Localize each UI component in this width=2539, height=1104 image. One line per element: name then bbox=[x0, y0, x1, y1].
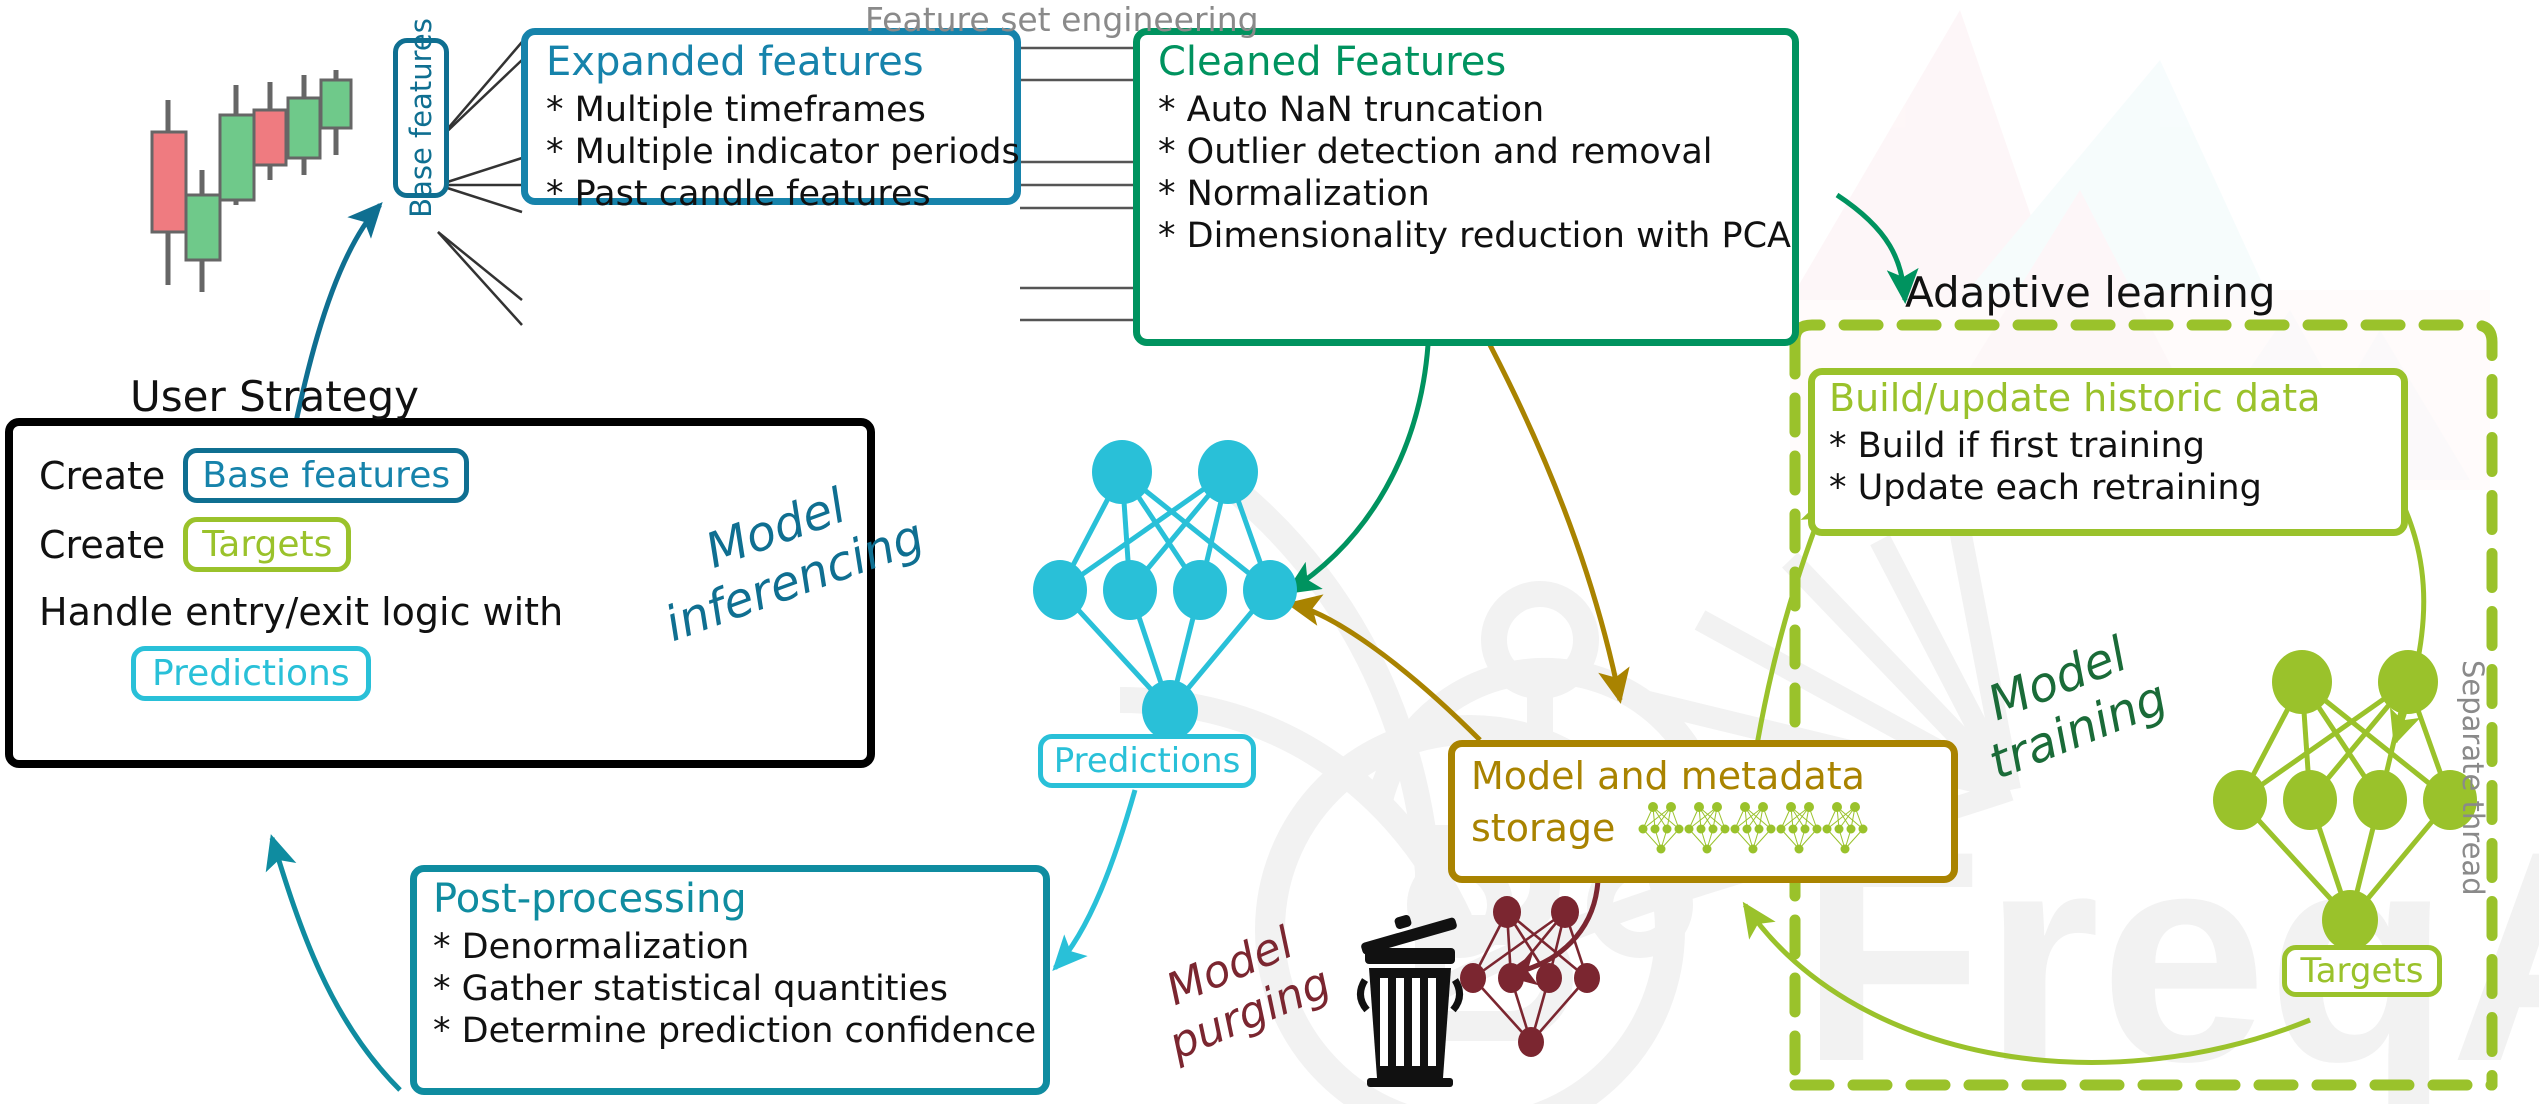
storage-line2: storage bbox=[1471, 806, 1615, 850]
list-item: Past candle features bbox=[546, 173, 998, 215]
feature-set-engineering-header: Feature set engineering bbox=[865, 0, 1259, 39]
model-metadata-storage-box: Model and metadata storage bbox=[1448, 740, 1958, 883]
connector-expanded-to-cleaned bbox=[1020, 48, 1133, 320]
fan-base-to-expanded bbox=[438, 42, 522, 325]
cleaned-features-title: Cleaned Features bbox=[1158, 41, 1776, 83]
expanded-features-list: Multiple timeframes Multiple indicator p… bbox=[546, 89, 998, 215]
post-processing-title: Post-processing bbox=[433, 878, 1029, 920]
list-item: Gather statistical quantities bbox=[433, 968, 1029, 1010]
cleaned-features-box: Cleaned Features Auto NaN truncation Out… bbox=[1133, 28, 1799, 346]
diagram-canvas: FreqAI bbox=[0, 0, 2539, 1104]
targets-output-pill: Targets bbox=[2282, 945, 2442, 997]
pill-base-features: Base features bbox=[183, 448, 469, 503]
predictions-output-pill: Predictions bbox=[1038, 734, 1256, 788]
create-label-2: Create bbox=[39, 523, 165, 567]
cleaned-features-list: Auto NaN truncation Outlier detection an… bbox=[1158, 89, 1776, 257]
base-features-vertical-pill: Base features bbox=[393, 38, 449, 198]
targets-output-label: Targets bbox=[2301, 951, 2424, 991]
list-item: Dimensionality reduction with PCA bbox=[1158, 215, 1776, 257]
historic-data-list: Build if first training Update each retr… bbox=[1829, 425, 2391, 509]
list-item: Denormalization bbox=[433, 926, 1029, 968]
post-processing-box: Post-processing Denormalization Gather s… bbox=[410, 865, 1050, 1095]
inference-neural-network-icon bbox=[1030, 430, 1320, 760]
trash-can-icon bbox=[1355, 900, 1465, 1090]
pill-targets: Targets bbox=[183, 517, 351, 572]
arrow-cleaned-to-adaptive bbox=[1837, 195, 1905, 300]
expanded-features-box: Expanded features Multiple timeframes Mu… bbox=[521, 28, 1021, 205]
list-item: Determine prediction confidence bbox=[433, 1010, 1029, 1052]
strategy-row-base-features: Create Base features bbox=[39, 448, 867, 503]
historic-data-title: Build/update historic data bbox=[1829, 379, 2391, 419]
purged-model-neural-network-icon bbox=[1455, 890, 1615, 1070]
arrow-predictions-to-postprocessing bbox=[1055, 790, 1135, 968]
pill-predictions: Predictions bbox=[131, 646, 371, 701]
list-item: Outlier detection and removal bbox=[1158, 131, 1776, 173]
list-item: Multiple indicator periods bbox=[546, 131, 998, 173]
list-item: Multiple timeframes bbox=[546, 89, 998, 131]
list-item: Build if first training bbox=[1829, 425, 2391, 467]
base-features-vertical-label: Base features bbox=[404, 18, 438, 218]
separate-thread-label: Separate thread bbox=[2456, 660, 2490, 896]
predictions-output-label: Predictions bbox=[1054, 741, 1241, 781]
arrow-features-to-storage bbox=[1490, 345, 1620, 700]
strategy-row-predictions: Predictions bbox=[39, 646, 867, 701]
storage-line1: Model and metadata bbox=[1471, 755, 1951, 799]
create-label-1: Create bbox=[39, 454, 165, 498]
user-strategy-heading: User Strategy bbox=[130, 372, 419, 421]
expanded-features-title: Expanded features bbox=[546, 41, 998, 83]
post-processing-list: Denormalization Gather statistical quant… bbox=[433, 926, 1029, 1052]
arrow-postprocessing-to-strategy bbox=[272, 838, 400, 1090]
adaptive-learning-heading: Adaptive learning bbox=[1905, 268, 2276, 317]
build-update-historic-data-box: Build/update historic data Build if firs… bbox=[1808, 368, 2408, 536]
list-item: Update each retraining bbox=[1829, 467, 2391, 509]
candlestick-chart-icon bbox=[140, 70, 370, 310]
stored-models-stack-icon bbox=[1637, 799, 1877, 857]
list-item: Normalization bbox=[1158, 173, 1776, 215]
list-item: Auto NaN truncation bbox=[1158, 89, 1776, 131]
